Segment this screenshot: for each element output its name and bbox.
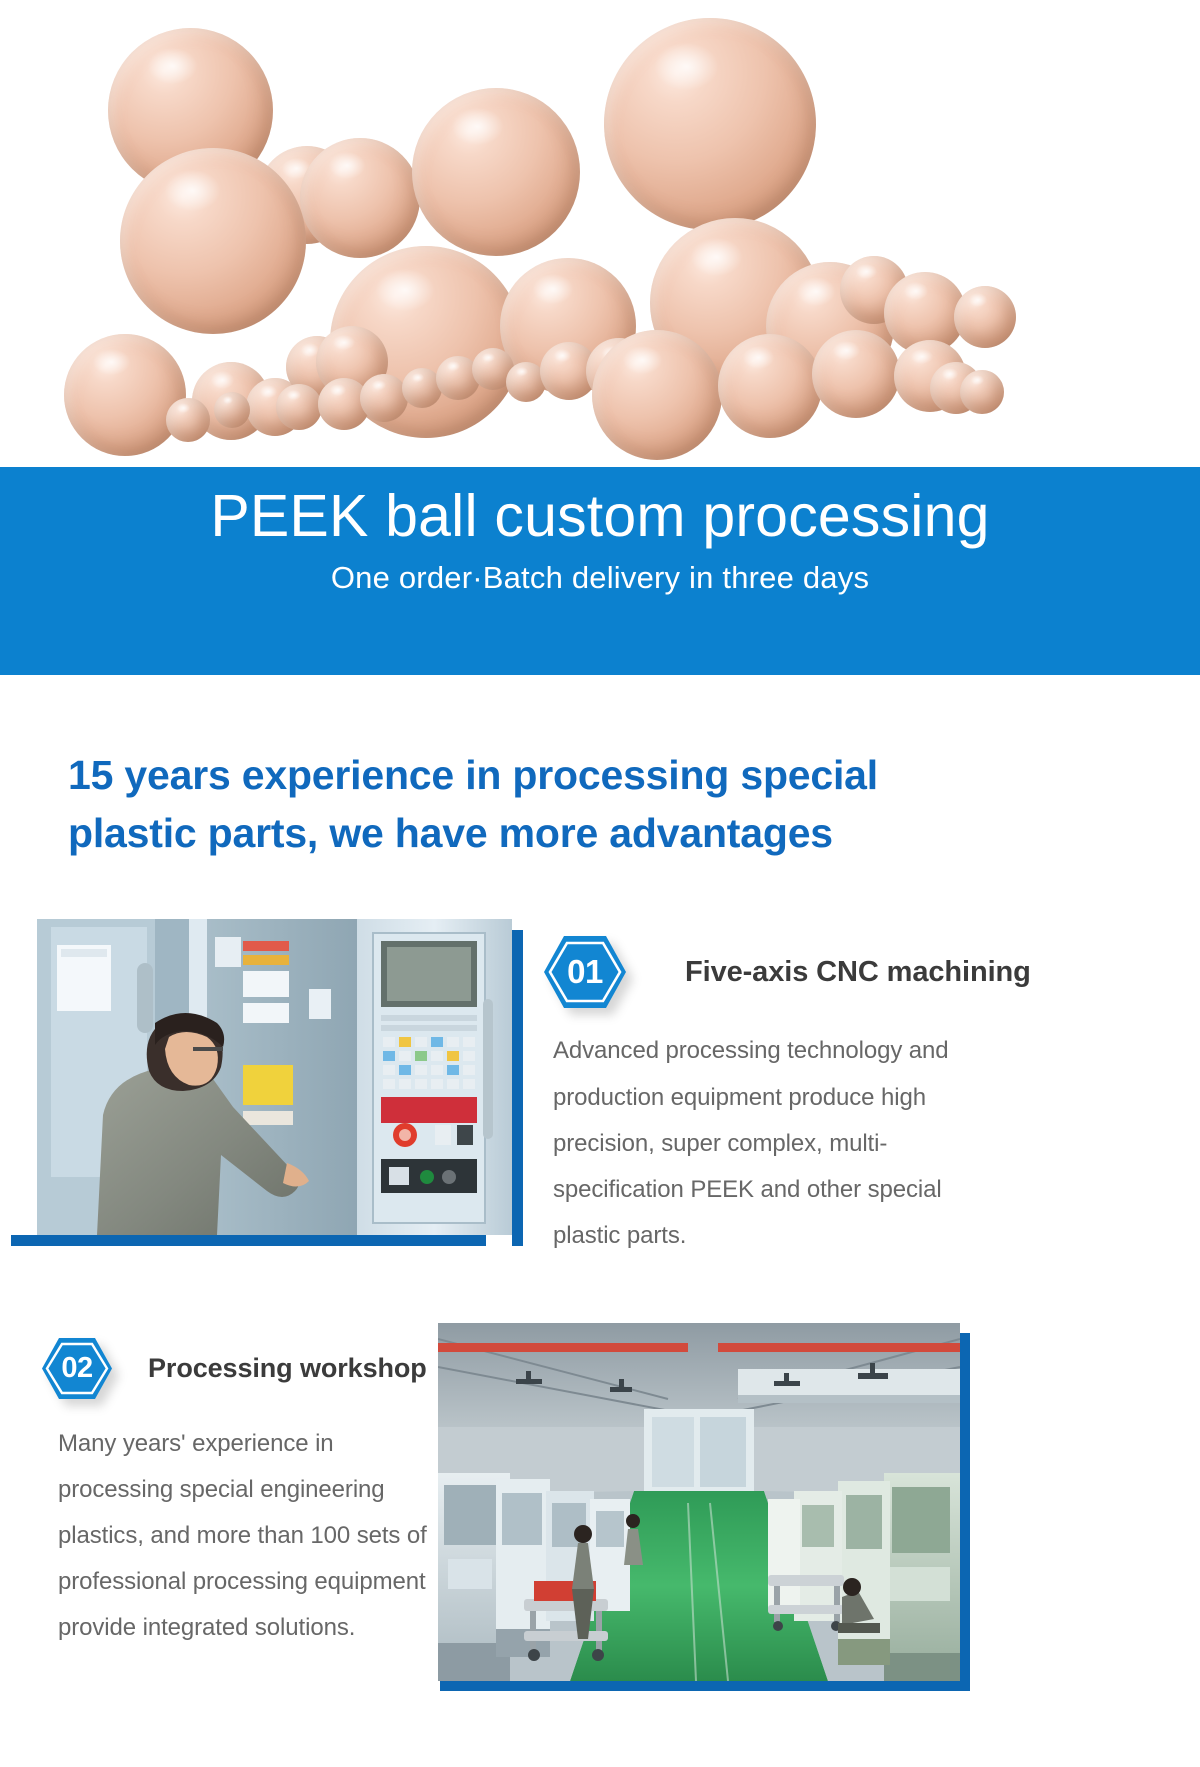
feature-02-photo xyxy=(438,1323,960,1681)
feature-02-head: 02 Processing workshop xyxy=(40,1335,430,1402)
feature-01-number: 01 xyxy=(542,933,628,1011)
feature-01-text: Advanced processing technology and produ… xyxy=(542,1011,972,1258)
photo-frame-accent-bottom xyxy=(11,1235,486,1246)
number-badge-hexagon-icon: 01 xyxy=(542,933,628,1011)
feature-01-head: 01 Five-axis CNC machining xyxy=(542,933,1200,1011)
cnc-operator-photo-art xyxy=(37,919,512,1235)
hero-banner-section: PEEK ball custom processing One order·Ba… xyxy=(0,0,1200,675)
feature-02-text: Many years' experience in processing spe… xyxy=(40,1402,430,1651)
feature-01-photo-wrap xyxy=(0,919,512,1235)
workshop-photo-art xyxy=(438,1323,960,1681)
feature-02-body: 02 Processing workshop Many years' exper… xyxy=(0,1323,430,1651)
feature-02-number: 02 xyxy=(40,1335,114,1402)
number-badge-hexagon-icon: 02 xyxy=(40,1335,114,1402)
feature-01-title: Five-axis CNC machining xyxy=(628,956,1031,989)
feature-card-01: 01 Five-axis CNC machining Advanced proc… xyxy=(0,862,1200,1258)
hero-subtitle: One order·Batch delivery in three days xyxy=(0,552,1200,596)
feature-01-photo xyxy=(37,919,512,1235)
photo-frame-accent-bottom xyxy=(440,1681,962,1691)
photo-frame-accent-right xyxy=(960,1333,970,1691)
hero-title-banner: PEEK ball custom processing One order·Ba… xyxy=(0,467,1200,675)
hero-title: PEEK ball custom processing xyxy=(0,467,1200,552)
feature-02-photo-wrap xyxy=(430,1323,960,1681)
feature-01-body: 01 Five-axis CNC machining Advanced proc… xyxy=(512,919,1200,1258)
photo-frame-accent-right xyxy=(512,930,523,1246)
feature-card-02: 02 Processing workshop Many years' exper… xyxy=(0,1259,1200,1681)
feature-02-title: Processing workshop xyxy=(114,1353,427,1384)
section-heading: 15 years experience in processing specia… xyxy=(0,675,1010,862)
